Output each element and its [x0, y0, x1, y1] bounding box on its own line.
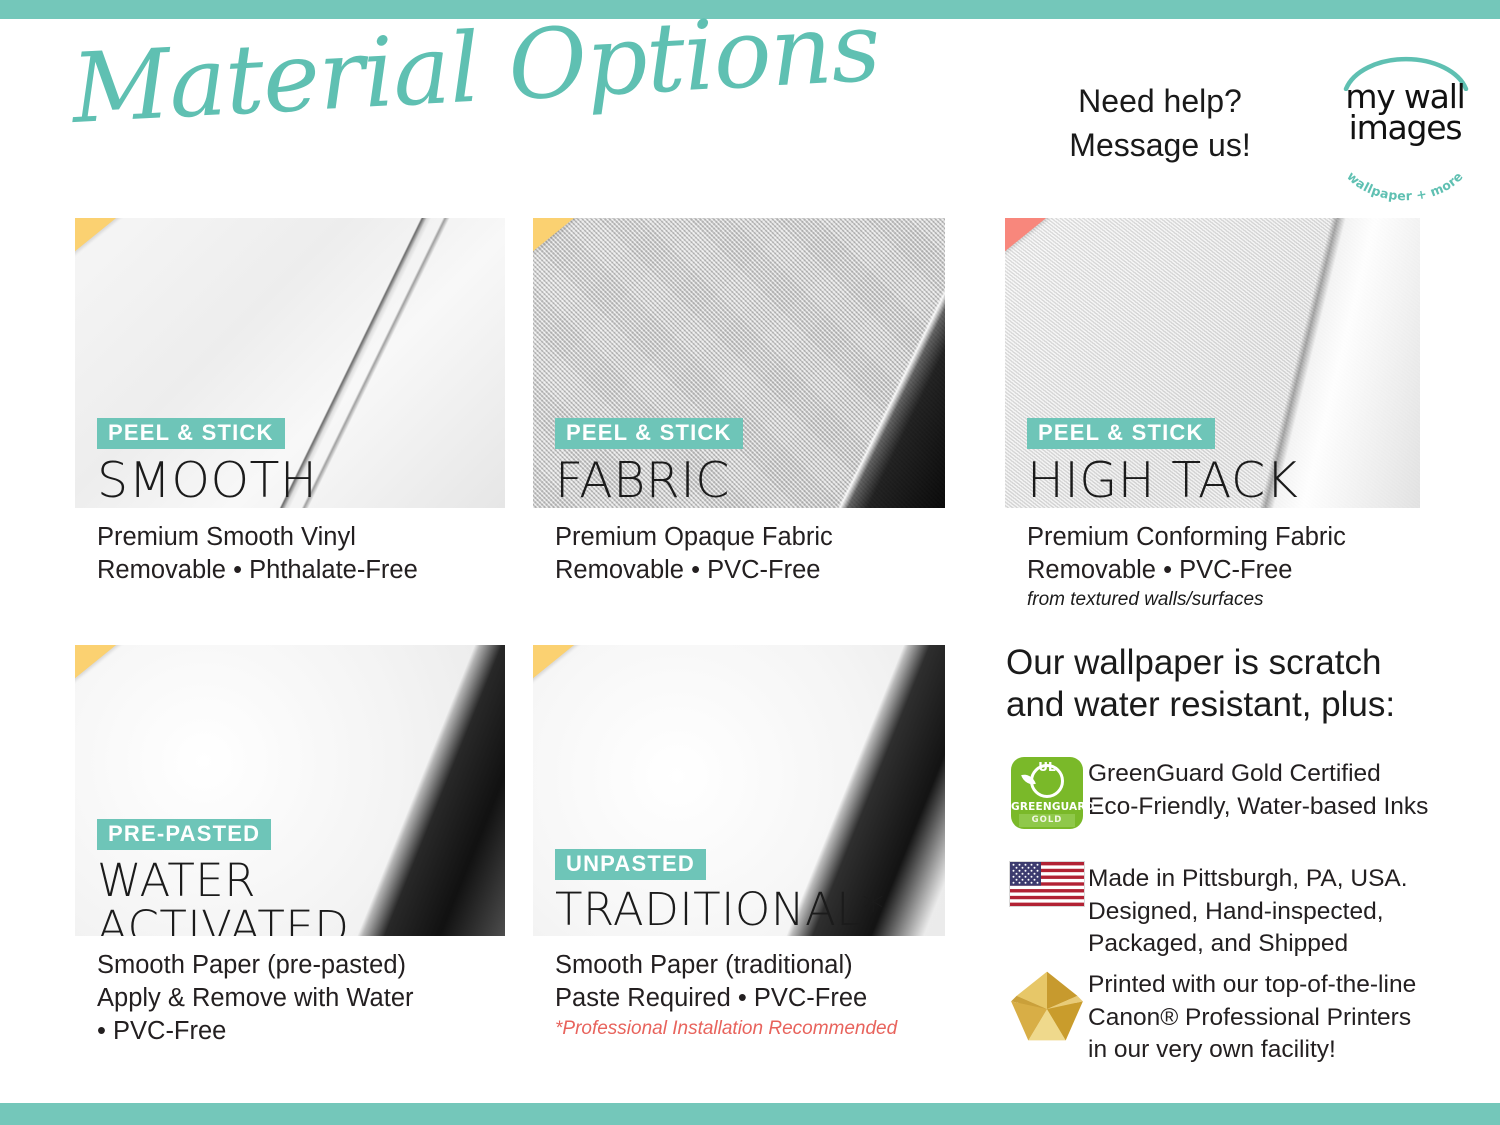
star-svg — [1008, 968, 1086, 1044]
benefit-text: GreenGuard Gold Certified Eco-Friendly, … — [1088, 757, 1428, 829]
card-title: HIGH TACK — [1027, 456, 1298, 505]
bottom-accent-band — [0, 1103, 1500, 1125]
greenguard-gold-badge-icon: UL GREENGUARD GOLD — [1006, 757, 1088, 829]
benefit-row-made-in-usa: Made in Pittsburgh, PA, USA. Designed, H… — [1006, 862, 1456, 961]
card-description: Smooth Paper (pre-pasted) Apply & Remove… — [97, 949, 527, 1048]
page-title: Material Options — [69, 0, 881, 137]
card-description: Smooth Paper (traditional) Paste Require… — [555, 949, 975, 1015]
material-card-water-activated[interactable]: for Smooth Walls PRE-PASTED WATER ACTIVA… — [75, 645, 505, 936]
material-card-fabric[interactable]: for Smooth Walls PEEL & STICK FABRIC Pre… — [533, 218, 945, 508]
benefit-row-canon-printers: Printed with our top-of-the-line Canon® … — [1006, 968, 1456, 1067]
card-badge: PEEL & STICK — [1027, 418, 1215, 449]
material-card-traditional[interactable]: for Smooth Walls UNPASTED TRADITIONAL* S… — [533, 645, 945, 936]
card-image: for Smooth Walls PEEL & STICK SMOOTH — [75, 218, 505, 508]
benefit-text: Made in Pittsburgh, PA, USA. Designed, H… — [1088, 862, 1408, 961]
usa-flag-icon — [1006, 862, 1088, 961]
material-card-smooth[interactable]: for Smooth Walls PEEL & STICK SMOOTH Pre… — [75, 218, 505, 508]
card-image: for Smooth Walls PRE-PASTED WATER ACTIVA… — [75, 645, 505, 936]
card-title: TRADITIONAL* — [555, 887, 885, 932]
logo-tagline: wallpaper + more — [1335, 159, 1475, 203]
card-badge: PRE-PASTED — [97, 819, 271, 850]
material-card-high-tack[interactable]: for Textured Walls PEEL & STICK HIGH TAC… — [1005, 218, 1420, 508]
logo-wordmark: my wall images — [1330, 81, 1480, 143]
card-image: for Smooth Walls UNPASTED TRADITIONAL* — [533, 645, 945, 936]
card-badge: PEEL & STICK — [555, 418, 743, 449]
flag-svg — [1010, 862, 1084, 906]
ul-mark-label: UL — [1011, 760, 1083, 774]
card-note: from textured walls/surfaces — [1027, 588, 1457, 612]
card-title: FABRIC — [555, 456, 730, 505]
card-description: Premium Opaque Fabric Removable • PVC-Fr… — [555, 521, 975, 587]
header: Material Options Need help? Message us! … — [0, 19, 1500, 204]
benefit-row-greenguard: UL GREENGUARD GOLD GreenGuard Gold Certi… — [1006, 757, 1456, 829]
greenguard-label: GREENGUARD — [1011, 801, 1083, 813]
greenguard-level-label: GOLD — [1019, 814, 1075, 827]
logo-line-2: images — [1330, 112, 1480, 143]
brand-logo[interactable]: my wall images wallpaper + more — [1330, 47, 1480, 195]
need-help-line-1: Need help? — [1035, 79, 1285, 123]
card-description: Premium Smooth Vinyl Removable • Phthala… — [97, 521, 517, 587]
svg-text:wallpaper + more: wallpaper + more — [1344, 168, 1466, 203]
card-badge: UNPASTED — [555, 849, 706, 880]
gold-star-icon — [1006, 968, 1088, 1067]
message-us-line: Message us! — [1035, 123, 1285, 167]
card-description: Premium Conforming Fabric Removable • PV… — [1027, 521, 1457, 587]
card-title: SMOOTH — [97, 456, 317, 505]
card-note: *Professional Installation Recommended — [555, 1017, 985, 1041]
card-badge: PEEL & STICK — [97, 418, 285, 449]
card-image: for Smooth Walls PEEL & STICK FABRIC — [533, 218, 945, 508]
card-image: for Textured Walls PEEL & STICK HIGH TAC… — [1005, 218, 1420, 508]
need-help-block: Need help? Message us! — [1035, 79, 1285, 167]
card-title: WATER ACTIVATED — [97, 857, 349, 936]
promo-heading: Our wallpaper is scratch and water resis… — [1006, 642, 1456, 727]
benefit-text: Printed with our top-of-the-line Canon® … — [1088, 968, 1416, 1067]
